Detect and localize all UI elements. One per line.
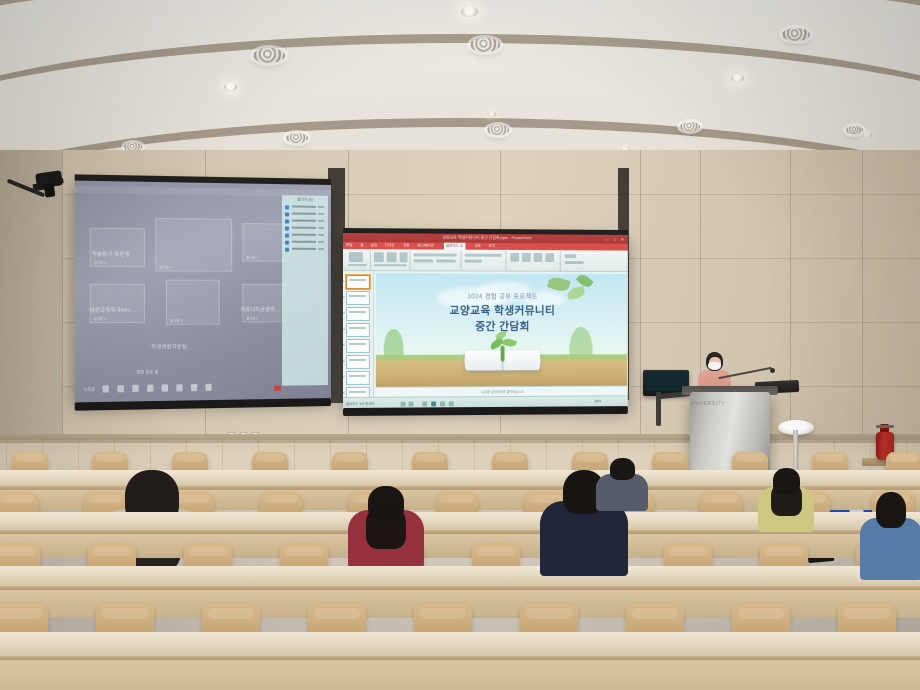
participant-avatar-icon: [285, 234, 289, 238]
ribbon-tab-검토[interactable]: 검토: [475, 244, 481, 249]
powerpoint-ribbon[interactable]: [343, 249, 628, 272]
participant-name-bar: [292, 213, 316, 215]
participant-list-item[interactable]: [285, 226, 325, 232]
slide-thumbnail[interactable]: [346, 275, 370, 289]
participant-list-item[interactable]: [285, 211, 325, 218]
desk-row-surface: [0, 566, 920, 586]
participant-name: 참가자 5: [94, 317, 107, 321]
participant-name-bar: [292, 206, 316, 208]
participant-list-item[interactable]: [285, 204, 325, 211]
zoom-leave-button[interactable]: [274, 386, 281, 391]
ceiling-light-icon: [862, 132, 872, 138]
air-vent-icon: [286, 133, 308, 143]
zoom-panel-title: 참가자 (6): [282, 197, 328, 203]
slide-thumbnail-number: 6: [343, 359, 345, 363]
participant-name: 참가자 2: [160, 265, 172, 269]
zoom-toolbar[interactable]: [103, 380, 267, 395]
extinguisher-handle: [876, 425, 894, 428]
ceiling-light-icon: [487, 111, 496, 117]
ribbon-tab-디자인[interactable]: 디자인: [385, 243, 395, 248]
participant-list-item[interactable]: [285, 218, 325, 224]
air-vent-icon: [253, 48, 285, 63]
participant-name-bar: [292, 234, 316, 236]
slide-sprout-illustration: [488, 332, 517, 362]
chat-icon[interactable]: [162, 384, 168, 391]
normal-view-icon[interactable]: [422, 401, 427, 406]
left-projection-screen: 참가자 1참가자 2참가자 3참가자 4참가자 5참가자 6 학술탐구 정민경대…: [75, 180, 331, 404]
zoom-level-label[interactable]: 68%: [595, 399, 602, 403]
attendee-yellow-cardigan: [758, 468, 814, 530]
air-vent-icon: [470, 38, 500, 52]
slide-thumbnail-number: 3: [343, 311, 345, 315]
person-head: [876, 492, 906, 528]
microphone-icon[interactable]: [103, 385, 109, 392]
record-icon[interactable]: [176, 384, 182, 391]
ribbon-tab-홈[interactable]: 홈: [360, 243, 363, 248]
right-projection-screen: 교양교육 학생커뮤니티 중간 간담회.pptx - PowerPoint — □…: [343, 233, 628, 409]
air-vent-icon: [846, 126, 863, 134]
reading-view-icon[interactable]: [440, 401, 445, 406]
participant-avatar-icon: [285, 205, 289, 209]
participant-status-icon: [318, 220, 324, 222]
participant-status-icon: [318, 234, 324, 236]
ribbon-tab-파일[interactable]: 파일: [346, 243, 353, 248]
share-screen-icon[interactable]: [147, 385, 153, 392]
ceiling-light-icon: [461, 6, 478, 17]
attendee-red-top: [348, 486, 424, 566]
leave-icon[interactable]: [205, 384, 211, 391]
notes-icon[interactable]: [401, 401, 406, 406]
participant-list-item[interactable]: [285, 247, 325, 253]
participant-name: 참가자 3: [246, 256, 258, 260]
window-controls[interactable]: — □ ✕: [605, 237, 626, 242]
podium-logo-text: UNIVERSITY: [690, 401, 725, 407]
participant-status-icon: [318, 227, 324, 229]
comments-icon[interactable]: [409, 401, 414, 406]
zoom-participant-tile[interactable]: 참가자 4: [166, 280, 220, 325]
zoom-share-label: 화면 공유 중: [136, 369, 158, 375]
slide-thumbnail[interactable]: [346, 307, 370, 321]
zoom-meeting-view: 참가자 1참가자 2참가자 3참가자 4참가자 5참가자 6 학술탐구 정민경대…: [75, 180, 331, 404]
participant-name-bar: [292, 248, 316, 250]
participant-status-icon: [318, 248, 324, 250]
participant-name: 참가자 6: [246, 316, 258, 320]
slide-eyebrow-text: 1024 경험 공유 프로젝트: [376, 290, 627, 300]
slide-thumbnail-number: 2: [343, 295, 345, 299]
air-vent-icon: [680, 122, 700, 131]
zoom-name-label: 커뮤니티운영위...: [240, 306, 280, 313]
participant-list-item[interactable]: [285, 233, 325, 239]
zoom-participants-panel[interactable]: 참가자 (6): [282, 195, 328, 385]
zoom-participant-tile[interactable]: 참가자 6: [242, 284, 285, 323]
slide-thumbnail[interactable]: [346, 291, 370, 305]
air-vent-icon: [782, 28, 810, 41]
participant-status-icon: [318, 206, 324, 208]
zoom-record-label: 녹화중: [83, 386, 95, 392]
podium-logo: UNIVERSITY: [690, 392, 720, 399]
slide-thumbnail[interactable]: [346, 323, 370, 337]
zoom-participant-tile[interactable]: 참가자 3: [242, 223, 285, 262]
slide-title-line-1: 교양교육 학생커뮤니티: [376, 302, 627, 318]
status-slide-counter: 슬라이드 1/8 한국어: [346, 401, 374, 406]
zoom-name-label: 학생생활지원팀: [151, 343, 187, 350]
zoom-panel-rows: [282, 195, 328, 196]
slide-thumbnail[interactable]: [346, 371, 370, 385]
attendee-blue-shirt: [860, 492, 920, 578]
powerpoint-slide-thumbnails[interactable]: 12345678: [343, 271, 374, 397]
reactions-icon[interactable]: [191, 384, 197, 391]
participant-status-icon: [318, 241, 324, 243]
zoom-participant-tile[interactable]: 참가자 2: [155, 218, 232, 272]
person-hair: [771, 482, 802, 516]
ribbon-tab-애니메이션[interactable]: 애니메이션: [417, 243, 433, 248]
slide-thumbnail[interactable]: [346, 339, 370, 353]
slide-thumbnail[interactable]: [346, 355, 370, 369]
person-hair: [366, 505, 406, 549]
participant-avatar-icon: [285, 219, 289, 223]
ribbon-tab-보기[interactable]: 보기: [489, 244, 495, 249]
microphone-capsule: [770, 368, 775, 373]
slideshow-icon[interactable]: [449, 401, 454, 406]
slide-thumbnail-number: 8: [343, 391, 345, 395]
slide-thumbnail-number: 7: [343, 375, 345, 379]
person-head: [610, 458, 635, 480]
participant-avatar-icon: [285, 248, 289, 252]
desk-row-surface: [0, 632, 920, 656]
participant-name-bar: [292, 241, 316, 243]
slide-thumbnail-number: 1: [343, 279, 345, 283]
air-vent-icon: [487, 125, 509, 135]
ceiling-light-icon: [731, 74, 744, 82]
lecture-hall-photo: 참가자 1참가자 2참가자 3참가자 4참가자 5참가자 6 학술탐구 정민경대…: [0, 0, 920, 690]
ribbon-tab-삽입[interactable]: 삽입: [370, 243, 377, 248]
participant-avatar-icon: [285, 212, 289, 216]
face-mask-icon: [708, 362, 721, 370]
attendee-gray-suit: [596, 458, 648, 510]
powerpoint-window: 교양교육 학생커뮤니티 중간 간담회.pptx - PowerPoint — □…: [343, 233, 628, 409]
presentation-slide: 1024 경험 공유 프로젝트 교양교육 학생커뮤니티 중간 간담회: [376, 273, 627, 387]
participant-avatar-icon: [285, 241, 289, 245]
slide-thumbnail-number: 5: [343, 343, 345, 347]
participants-icon[interactable]: [132, 385, 138, 392]
zoom-participant-tile[interactable]: 참가자 5: [90, 284, 145, 323]
participant-name: 참가자 1: [94, 261, 107, 265]
desk-row-front: [0, 660, 920, 690]
participant-name: 참가자 4: [170, 319, 182, 323]
notes-placeholder: 노트를 입력하려면 클릭하십시오: [481, 389, 524, 394]
ribbon-tab-전환[interactable]: 전환: [403, 243, 410, 248]
ceiling-light-icon: [224, 83, 237, 91]
participant-list-item[interactable]: [285, 240, 325, 246]
slide-title-block: 1024 경험 공유 프로젝트 교양교육 학생커뮤니티 중간 간담회: [376, 290, 627, 334]
video-icon[interactable]: [117, 385, 123, 392]
zoom-participant-tile[interactable]: 참가자 1: [90, 228, 145, 268]
zoom-name-label: 학술탐구 정민경: [92, 250, 130, 257]
participant-avatar-icon: [285, 227, 289, 231]
participant-name-bar: [292, 227, 316, 229]
slide-sorter-icon[interactable]: [431, 401, 436, 406]
powerpoint-window-title: 교양교육 학생커뮤니티 중간 간담회.pptx - PowerPoint: [442, 235, 531, 242]
slide-thumbnail-number: 4: [343, 327, 345, 331]
participant-name-bar: [292, 220, 316, 222]
zoom-name-label: 대한교육학과ooo...: [90, 306, 137, 313]
participant-status-icon: [318, 213, 324, 215]
